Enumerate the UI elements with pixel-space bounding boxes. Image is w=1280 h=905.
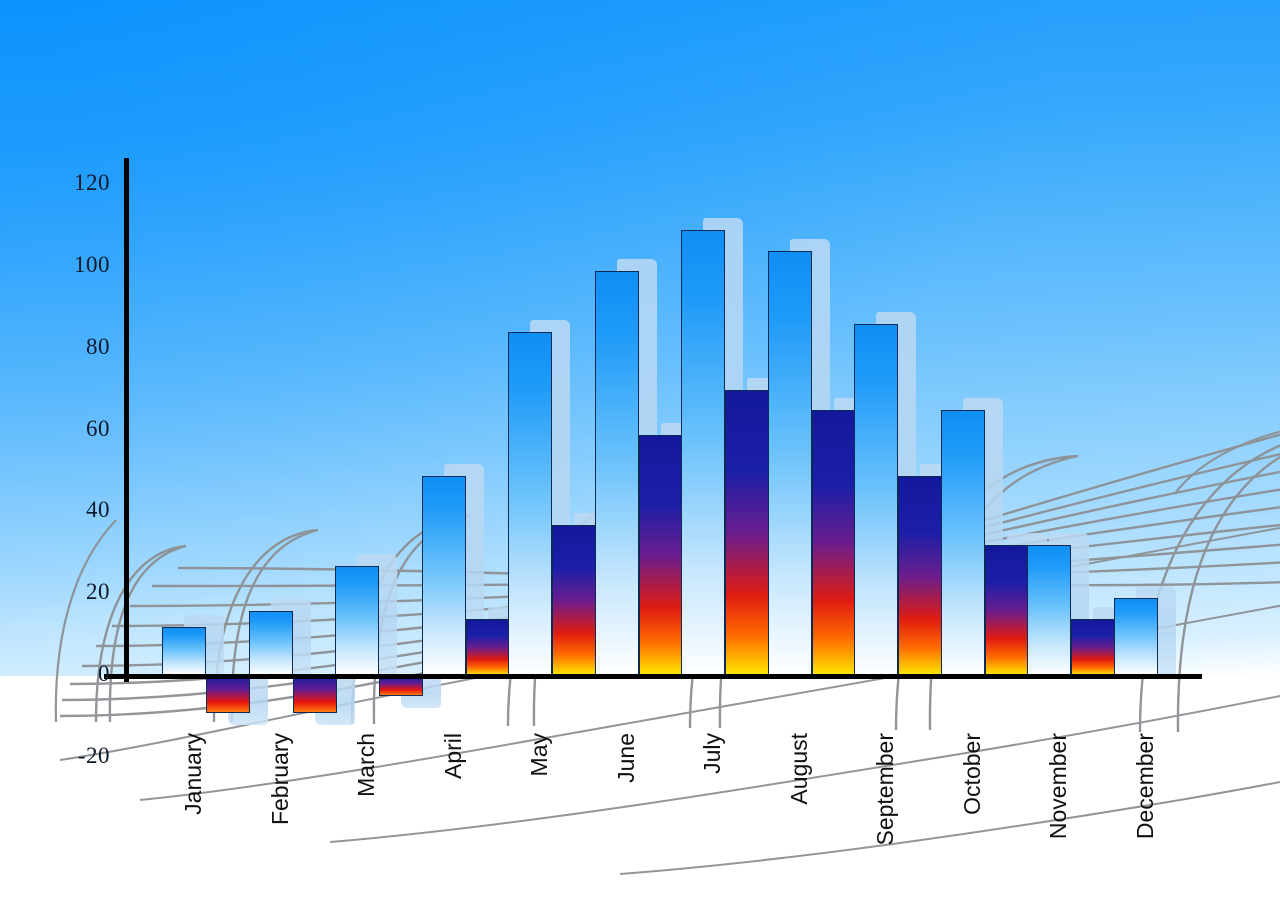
x-axis-label-october: October [959, 733, 986, 815]
y-axis-line [124, 158, 129, 682]
x-axis-label-march: March [353, 733, 380, 797]
x-axis-label-june: June [613, 733, 640, 783]
x-axis-label-september: September [872, 733, 899, 846]
bar-april-series2[interactable] [466, 619, 510, 676]
x-axis-label-april: April [440, 733, 467, 779]
y-axis-tick-mark [114, 674, 136, 678]
bar-june-series1[interactable] [595, 271, 639, 676]
x-axis-label-february: February [267, 733, 294, 825]
bar-may-series1[interactable] [508, 332, 552, 676]
bar-may-series2[interactable] [552, 525, 596, 676]
bar-october-series2[interactable] [985, 545, 1029, 676]
y-axis-tick-label: -20 [0, 743, 110, 769]
bar-february-series1[interactable] [249, 611, 293, 676]
bar-june-series2[interactable] [639, 435, 683, 676]
y-axis-tick-label: 120 [0, 170, 110, 196]
y-axis-tick-label: 100 [0, 252, 110, 278]
y-axis-tick-label: 60 [0, 416, 110, 442]
bar-january-series2[interactable] [206, 676, 250, 713]
bar-november-series2[interactable] [1071, 619, 1115, 676]
bar-january-series1[interactable] [162, 627, 206, 676]
bar-july-series2[interactable] [725, 390, 769, 676]
y-axis-tick-label: 40 [0, 497, 110, 523]
chart-canvas: -20020406080100120JanuaryFebruaryMarchAp… [0, 0, 1280, 905]
x-axis-label-january: January [180, 733, 207, 815]
bar-september-series1[interactable] [854, 324, 898, 676]
x-axis-label-august: August [786, 733, 813, 805]
y-axis-tick-label: 20 [0, 579, 110, 605]
bar-october-series1[interactable] [941, 410, 985, 676]
bar-september-series2[interactable] [898, 476, 942, 676]
bar-march-series2[interactable] [379, 676, 423, 696]
y-axis-tick-label: 80 [0, 334, 110, 360]
x-axis-label-july: July [699, 733, 726, 774]
x-axis-line [104, 674, 1202, 679]
bar-march-series1[interactable] [335, 566, 379, 676]
x-axis-label-december: December [1132, 733, 1159, 839]
bar-april-series1[interactable] [422, 476, 466, 676]
bar-july-series1[interactable] [681, 230, 725, 676]
bar-november-series1[interactable] [1027, 545, 1071, 676]
bar-august-series2[interactable] [812, 410, 856, 676]
x-axis-label-november: November [1045, 733, 1072, 839]
x-axis-label-may: May [526, 733, 553, 776]
bar-august-series1[interactable] [768, 251, 812, 676]
bar-february-series2[interactable] [293, 676, 337, 713]
bar-december-series1[interactable] [1114, 598, 1158, 676]
y-axis-tick-label: 0 [0, 661, 110, 687]
